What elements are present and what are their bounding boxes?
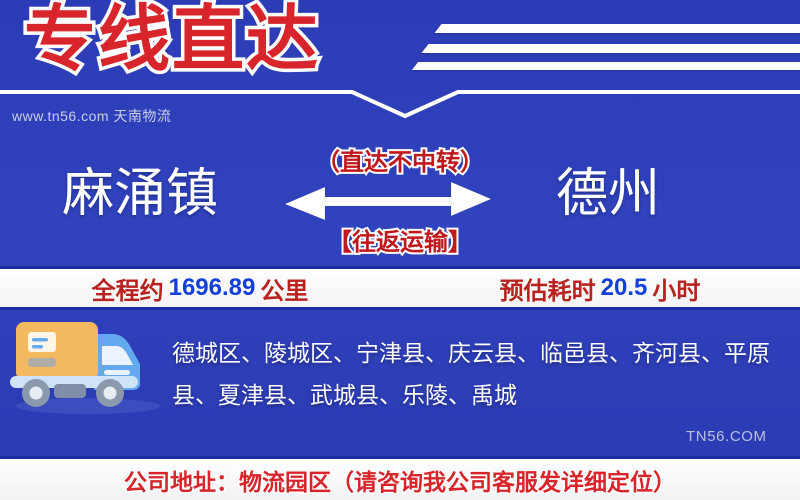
distance-label: 全程约 <box>92 271 164 306</box>
company-address-text: 公司地址：物流园区（请咨询我公司客服发详细定位） <box>124 463 676 497</box>
footer-bar: 公司地址：物流园区（请咨询我公司客服发详细定位） <box>0 456 800 500</box>
distance-unit: 公里 <box>260 271 308 306</box>
delivery-truck-icon <box>6 312 168 414</box>
direct-route-badge: （直达不中转） <box>0 142 800 177</box>
round-trip-badge: 【往返运输】 <box>0 222 800 257</box>
site-watermark: TN56.COM <box>686 428 767 445</box>
diagonal-stripe-3 <box>412 62 800 70</box>
distance-value: 1696.89 <box>169 274 256 302</box>
metrics-bar: 全程约 1696.89 公里 预估耗时 20.5 小时 <box>0 266 800 310</box>
diagonal-stripe-1 <box>434 24 800 33</box>
bidirectional-arrow-icon <box>283 176 493 222</box>
duration-label: 预估耗时 <box>500 271 596 306</box>
page-title: 专线直达 <box>24 4 320 76</box>
coverage-area-list: 德城区、陵城区、宁津县、庆云县、临邑县、齐河县、平原县、夏津县、武城县、乐陵、禹… <box>172 332 772 416</box>
duration-unit: 小时 <box>652 271 700 306</box>
duration-metric: 预估耗时 20.5 小时 <box>400 271 800 306</box>
logistics-banner: 专线直达 专线直达 www.tn56.com 天南物流 麻涌镇 德州 （直达不中… <box>0 0 800 500</box>
diagonal-stripe-2 <box>421 44 800 53</box>
distance-metric: 全程约 1696.89 公里 <box>0 271 400 306</box>
duration-value: 20.5 <box>601 274 648 302</box>
site-url-label: www.tn56.com 天南物流 <box>12 106 171 126</box>
